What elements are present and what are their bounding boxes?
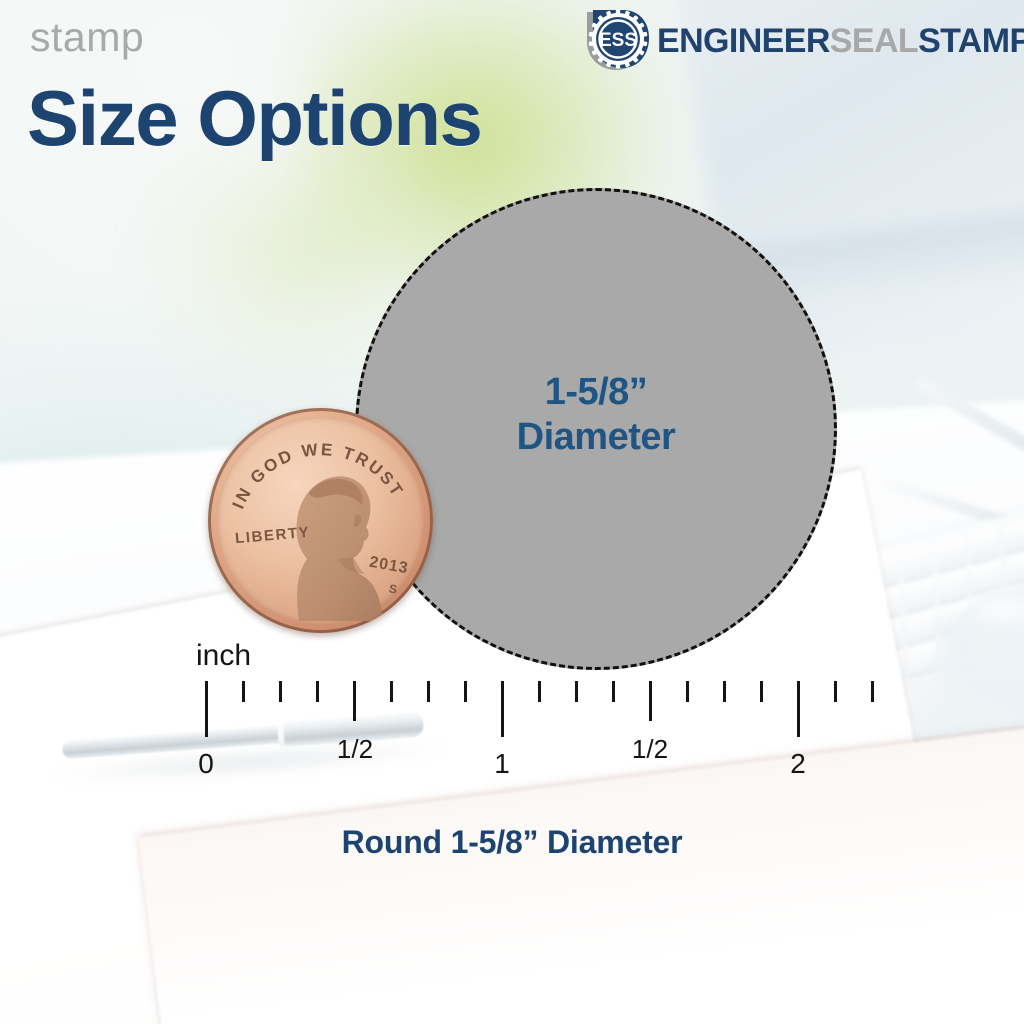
logo-word-stamps: STAMPS xyxy=(918,24,1024,58)
ess-mark-text: ESS xyxy=(599,30,637,51)
ess-shield-icon: ESS xyxy=(583,8,653,74)
logo-word-seal: SEAL xyxy=(830,24,918,58)
brand-logo[interactable]: ESS ENGINEER SEAL STAMPS .COM xyxy=(583,8,1024,74)
kicker-label: stamp xyxy=(30,17,144,58)
size-options-graphic: stamp Size Options xyxy=(0,0,1024,1024)
size-caption: Round 1-5/8” Diameter xyxy=(0,824,1024,861)
penny-scale-reference: LIBERTY 2013 S IN GOD WE TRUST xyxy=(208,408,433,633)
logo-wordmark: ENGINEER SEAL STAMPS .COM xyxy=(657,8,1024,74)
logo-word-engineer: ENGINEER xyxy=(657,24,830,58)
page-title: Size Options xyxy=(27,79,481,157)
penny-motto-text: IN GOD WE TRUST xyxy=(229,440,408,512)
penny-motto: IN GOD WE TRUST xyxy=(208,408,433,633)
